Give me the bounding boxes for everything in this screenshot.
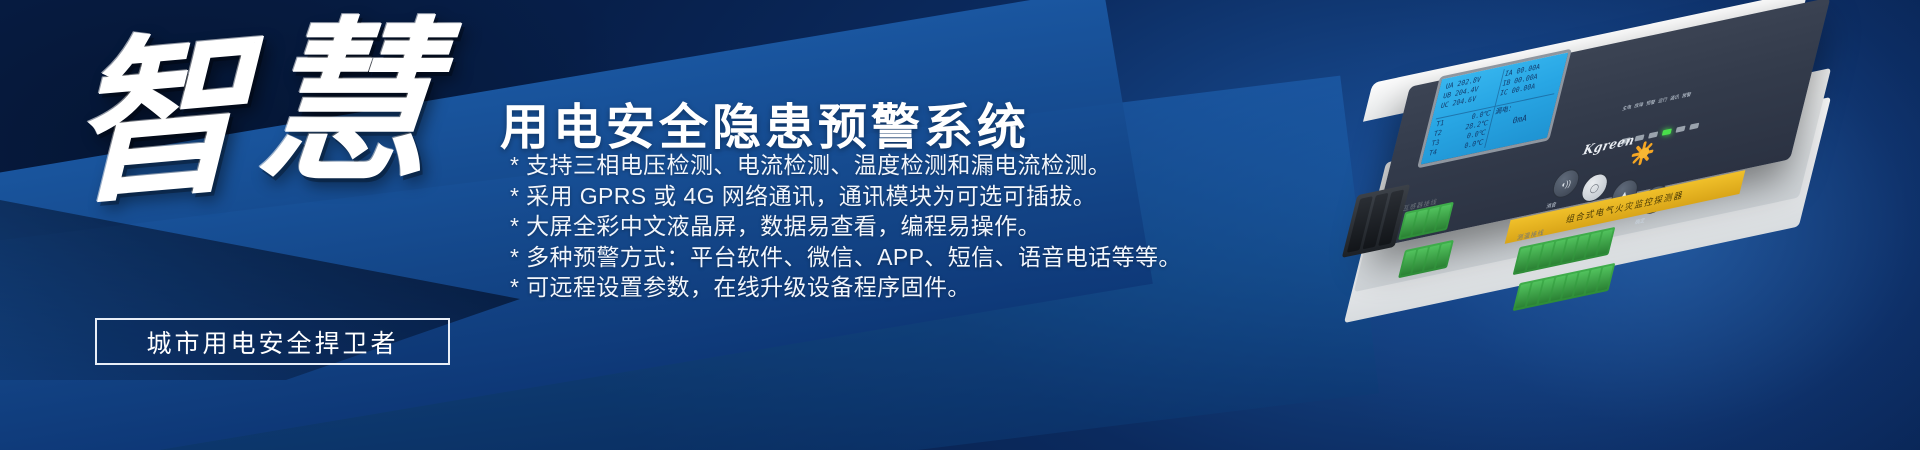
feature-list: * 支持三相电压检测、电流检测、温度检测和漏电流检测。 * 采用 GPRS 或 … xyxy=(510,150,1310,303)
feature-item-3: * 大屏全彩中文液晶屏，数据易查看，编程易操作。 xyxy=(510,211,1310,242)
mute-button-label: 消音 xyxy=(1545,201,1557,211)
product-banner: 智慧 城市用电安全捍卫者 用电安全隐患预警系统 * 支持三相电压检测、电流检测、… xyxy=(0,0,1920,450)
page-title: 用电安全隐患预警系统 xyxy=(500,88,1030,159)
feature-item-1: * 支持三相电压检测、电流检测、温度检测和漏电流检测。 xyxy=(510,150,1310,181)
calligraphy-title: 智慧 xyxy=(60,16,435,298)
lcd-t4-name: T4 xyxy=(1428,148,1438,159)
tagline-text: 城市用电安全捍卫者 xyxy=(146,324,398,360)
feature-item-2: * 采用 GPRS 或 4G 网络通讯，通讯模块为可选可插拔。 xyxy=(510,181,1310,212)
calligraphy-char-2: 慧 xyxy=(250,15,447,194)
feature-item-5: * 可远程设置参数，在线升级设备程序固件。 xyxy=(510,272,1310,303)
product-image: UA 202.8V UB 204.4V UC 204.6V IA 00.00A … xyxy=(1345,10,1920,340)
calligraphy-char-1: 智 xyxy=(70,24,252,218)
feature-item-4: * 多种预警方式：平台软件、微信、APP、短信、语音电话等等。 xyxy=(510,242,1310,273)
tagline-box: 城市用电安全捍卫者 xyxy=(95,318,450,365)
